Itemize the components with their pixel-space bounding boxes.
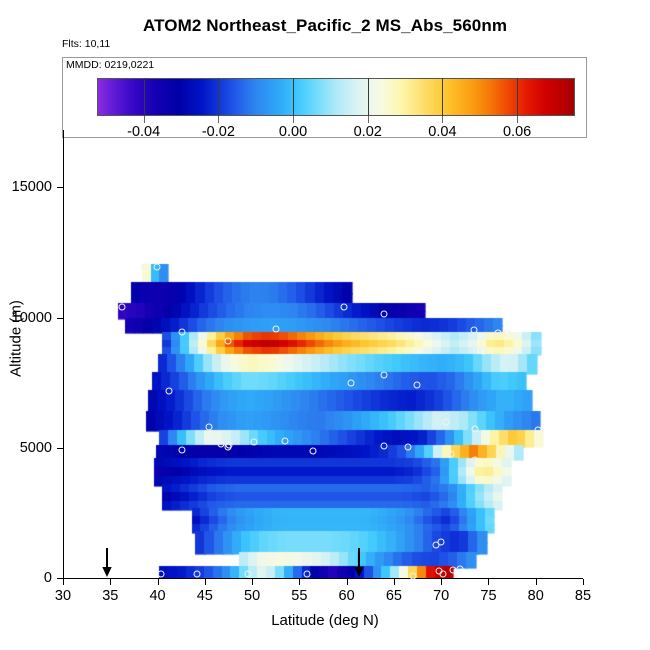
- x-tick-label: 55: [291, 588, 307, 604]
- sample-point: [494, 329, 501, 336]
- x-tick: [394, 579, 395, 585]
- sample-point: [179, 329, 186, 336]
- sample-point: [272, 326, 279, 333]
- sample-point: [225, 337, 232, 344]
- flights-label: Flts: 10,11: [62, 38, 110, 50]
- x-tick-label: 45: [197, 588, 213, 604]
- x-tick-label: 80: [528, 588, 544, 604]
- sample-point: [449, 567, 456, 574]
- colorbar-divider: [442, 78, 443, 116]
- x-tick: [347, 579, 348, 585]
- x-tick: [583, 579, 584, 585]
- x-tick: [205, 579, 206, 585]
- colorbar: -0.04-0.020.000.020.040.06: [97, 78, 575, 116]
- sample-point: [504, 330, 511, 337]
- x-tick-label: 50: [244, 588, 260, 604]
- sample-point: [348, 379, 355, 386]
- sample-point: [245, 571, 252, 578]
- date-label: MMDD: 0219,0221: [66, 59, 154, 71]
- colorbar-tick: [442, 116, 443, 123]
- sample-point: [534, 426, 541, 433]
- sample-point: [479, 347, 486, 354]
- colorbar-divider: [144, 78, 145, 116]
- x-tick-label: 70: [433, 588, 449, 604]
- x-axis-title: Latitude (deg N): [0, 612, 650, 629]
- x-tick: [536, 579, 537, 585]
- x-tick: [441, 579, 442, 585]
- sample-point: [217, 440, 224, 447]
- colorbar-divider: [517, 78, 518, 116]
- x-tick-label: 35: [102, 588, 118, 604]
- x-tick-label: 30: [55, 588, 71, 604]
- sample-point: [413, 381, 420, 388]
- sample-point: [447, 451, 454, 458]
- x-tick: [252, 579, 253, 585]
- x-tick: [158, 579, 159, 585]
- sample-point: [457, 566, 464, 573]
- profile-arrow: [102, 548, 113, 578]
- heatmap-canvas: [63, 130, 583, 578]
- colorbar-divider: [218, 78, 219, 116]
- sample-point: [141, 263, 148, 270]
- x-tick-label: 40: [149, 588, 165, 604]
- sample-point: [442, 418, 449, 425]
- colorbar-tick: [293, 116, 294, 123]
- sample-point: [409, 573, 416, 580]
- sample-point: [471, 327, 478, 334]
- colorbar-tick: [517, 116, 518, 123]
- sample-point: [225, 443, 232, 450]
- colorbar-tick: [368, 116, 369, 123]
- sample-point: [472, 457, 479, 464]
- page-title: ATOM2 Northeast_Pacific_2 MS_Abs_560nm: [0, 16, 650, 36]
- sample-point: [303, 571, 310, 578]
- sample-point: [165, 388, 172, 395]
- x-tick-label: 65: [386, 588, 402, 604]
- colorbar-gradient: [97, 78, 575, 116]
- sample-point: [405, 443, 412, 450]
- colorbar-tick: [218, 116, 219, 123]
- colorbar-tick: [144, 116, 145, 123]
- x-tick: [110, 579, 111, 585]
- plot-area: [63, 130, 583, 578]
- sample-point: [194, 571, 201, 578]
- y-tick-label: 5000: [0, 440, 52, 456]
- x-tick: [299, 579, 300, 585]
- x-tick-label: 75: [480, 588, 496, 604]
- sample-point: [381, 310, 388, 317]
- sample-point: [381, 371, 388, 378]
- y-axis-title: Altitude (m): [8, 239, 25, 439]
- sample-point: [118, 304, 125, 311]
- y-tick: [57, 578, 63, 579]
- sample-point: [179, 446, 186, 453]
- x-tick: [488, 579, 489, 585]
- sample-point: [158, 571, 165, 578]
- profile-arrow: [353, 548, 364, 578]
- sample-point: [153, 263, 160, 270]
- x-tick: [63, 579, 64, 585]
- x-tick-label: 85: [575, 588, 591, 604]
- x-axis-line: [63, 578, 583, 579]
- sample-point: [472, 426, 479, 433]
- sample-point: [381, 442, 388, 449]
- sample-point: [496, 449, 503, 456]
- y-tick-label: 0: [0, 570, 52, 586]
- sample-point: [433, 541, 440, 548]
- y-tick-label: 15000: [0, 179, 52, 195]
- sample-point: [340, 304, 347, 311]
- sample-point: [309, 448, 316, 455]
- sample-point: [250, 438, 257, 445]
- colorbar-divider: [368, 78, 369, 116]
- sample-point: [282, 437, 289, 444]
- figure-root: ATOM2 Northeast_Pacific_2 MS_Abs_560nm F…: [0, 0, 650, 650]
- x-tick-label: 60: [339, 588, 355, 604]
- colorbar-divider: [293, 78, 294, 116]
- sample-point: [440, 571, 447, 578]
- sample-point: [205, 424, 212, 431]
